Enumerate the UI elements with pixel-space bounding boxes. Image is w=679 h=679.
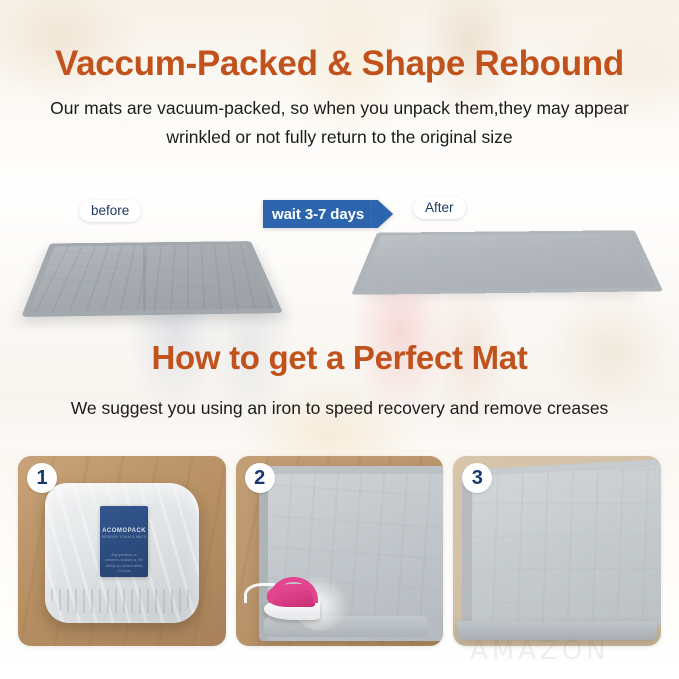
brand-name: ACOMOPACK	[100, 528, 148, 534]
after-label: After	[413, 197, 466, 219]
section-one-subtitle: Our mats are vacuum-packed, so when you …	[0, 94, 679, 152]
iron-handle	[269, 577, 318, 603]
label-note: Any questions or concerns, contact us. W…	[104, 553, 144, 575]
after-mat-image	[352, 177, 662, 305]
section-two-heading: How to get a Perfect Mat	[0, 339, 679, 377]
before-mat-image	[21, 241, 283, 317]
steam-iron	[261, 581, 323, 621]
mat-front-edge	[457, 621, 656, 640]
step-panel-3: 3	[453, 456, 661, 646]
section-two-subtitle: We suggest you using an iron to speed re…	[0, 394, 679, 423]
product-infographic: Vaccum-Packed & Shape Rebound Our mats a…	[0, 0, 679, 679]
step-panel-2: 2	[236, 456, 444, 646]
product-label: ACOMOPACK MEMORY FOAM & MATS Any questio…	[100, 506, 148, 576]
vacuum-packed-bag: ACOMOPACK MEMORY FOAM & MATS Any questio…	[45, 483, 199, 624]
step-badge-2: 2	[245, 463, 275, 493]
step-badge-1: 1	[27, 463, 57, 493]
bag-pleat	[51, 589, 192, 613]
section-one-heading: Vaccum-Packed & Shape Rebound	[0, 44, 679, 84]
after-mat-surface	[351, 230, 663, 294]
step-panels: ACOMOPACK MEMORY FOAM & MATS Any questio…	[18, 456, 661, 646]
step-panel-1: ACOMOPACK MEMORY FOAM & MATS Any questio…	[18, 456, 226, 646]
brand-tagline: MEMORY FOAM & MATS	[100, 535, 148, 539]
finished-flat-mat	[462, 458, 661, 637]
before-label: before	[79, 200, 141, 222]
before-after-comparison: before wait 3-7 days After	[0, 165, 679, 315]
